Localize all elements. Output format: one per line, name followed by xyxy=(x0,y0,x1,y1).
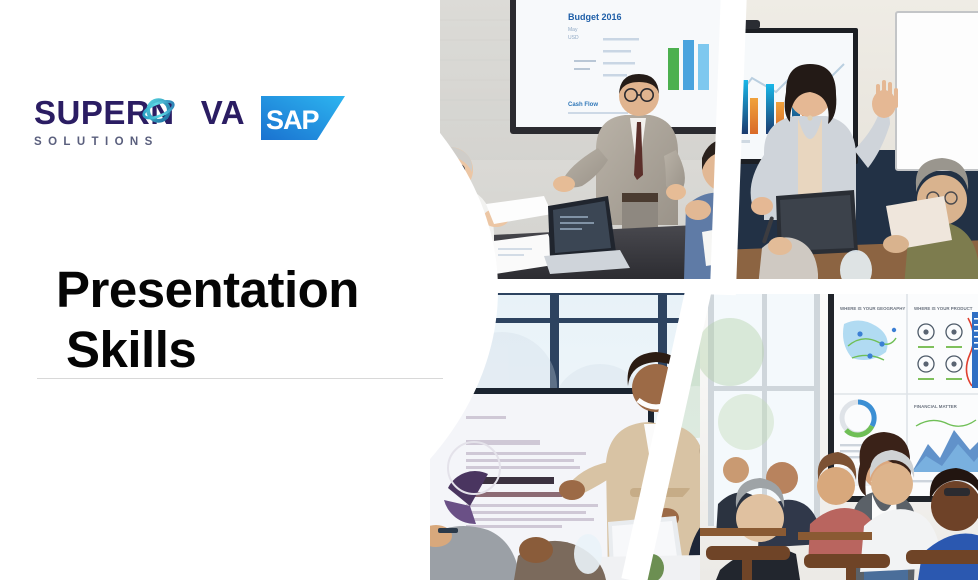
svg-text:Budget 2016: Budget 2016 xyxy=(568,12,622,22)
supernova-wordmark-part-2: VA xyxy=(201,94,245,131)
supernova-wordmark-part-1: SUPERN xyxy=(34,94,175,131)
seminar-audience-illustration: WHERE IS YOUR GEOGRAPHY WHERE IS YOUR PR… xyxy=(700,292,978,580)
logo-lockup: SUPERNOVA xyxy=(34,96,345,148)
svg-text:Cash Flow: Cash Flow xyxy=(568,102,598,108)
supernova-solutions-logo: SUPERNOVA xyxy=(34,96,245,148)
title-divider-rule xyxy=(37,378,443,379)
svg-text:WHERE IS YOUR GEOGRAPHY: WHERE IS YOUR GEOGRAPHY xyxy=(840,306,905,311)
svg-text:WHERE IS YOUR PRODUCT: WHERE IS YOUR PRODUCT xyxy=(914,306,973,311)
page-title-line-2: Skills xyxy=(56,320,456,380)
svg-text:USD: USD xyxy=(568,35,579,41)
svg-text:FINANCIAL MATTER: FINANCIAL MATTER xyxy=(914,404,958,409)
sap-logo: SAP xyxy=(261,96,345,140)
sap-logo-mark: SAP xyxy=(261,96,345,140)
sap-logo-text: SAP xyxy=(266,105,320,135)
collage-horizontal-seam-right xyxy=(718,286,978,294)
left-content-panel: SUPERNOVA xyxy=(0,0,460,580)
woman-presenter-chart-illustration xyxy=(728,0,978,287)
svg-text:May: May xyxy=(568,27,578,33)
presentation-slide: Budget 2016 May USD Cash Flow xyxy=(0,0,978,580)
collage-photo-top-right xyxy=(728,0,978,287)
page-title-line-1: Presentation xyxy=(56,261,359,318)
supernova-tagline: SOLUTIONS xyxy=(34,136,245,148)
page-title: Presentation Skills xyxy=(56,260,456,380)
supernova-wordmark: SUPERNOVA xyxy=(34,96,245,129)
collage-photo-bottom-right: WHERE IS YOUR GEOGRAPHY WHERE IS YOUR PR… xyxy=(700,292,978,580)
supernova-wordmark-o-slot: O xyxy=(175,94,201,131)
photo-collage: Budget 2016 May USD Cash Flow xyxy=(418,0,978,580)
